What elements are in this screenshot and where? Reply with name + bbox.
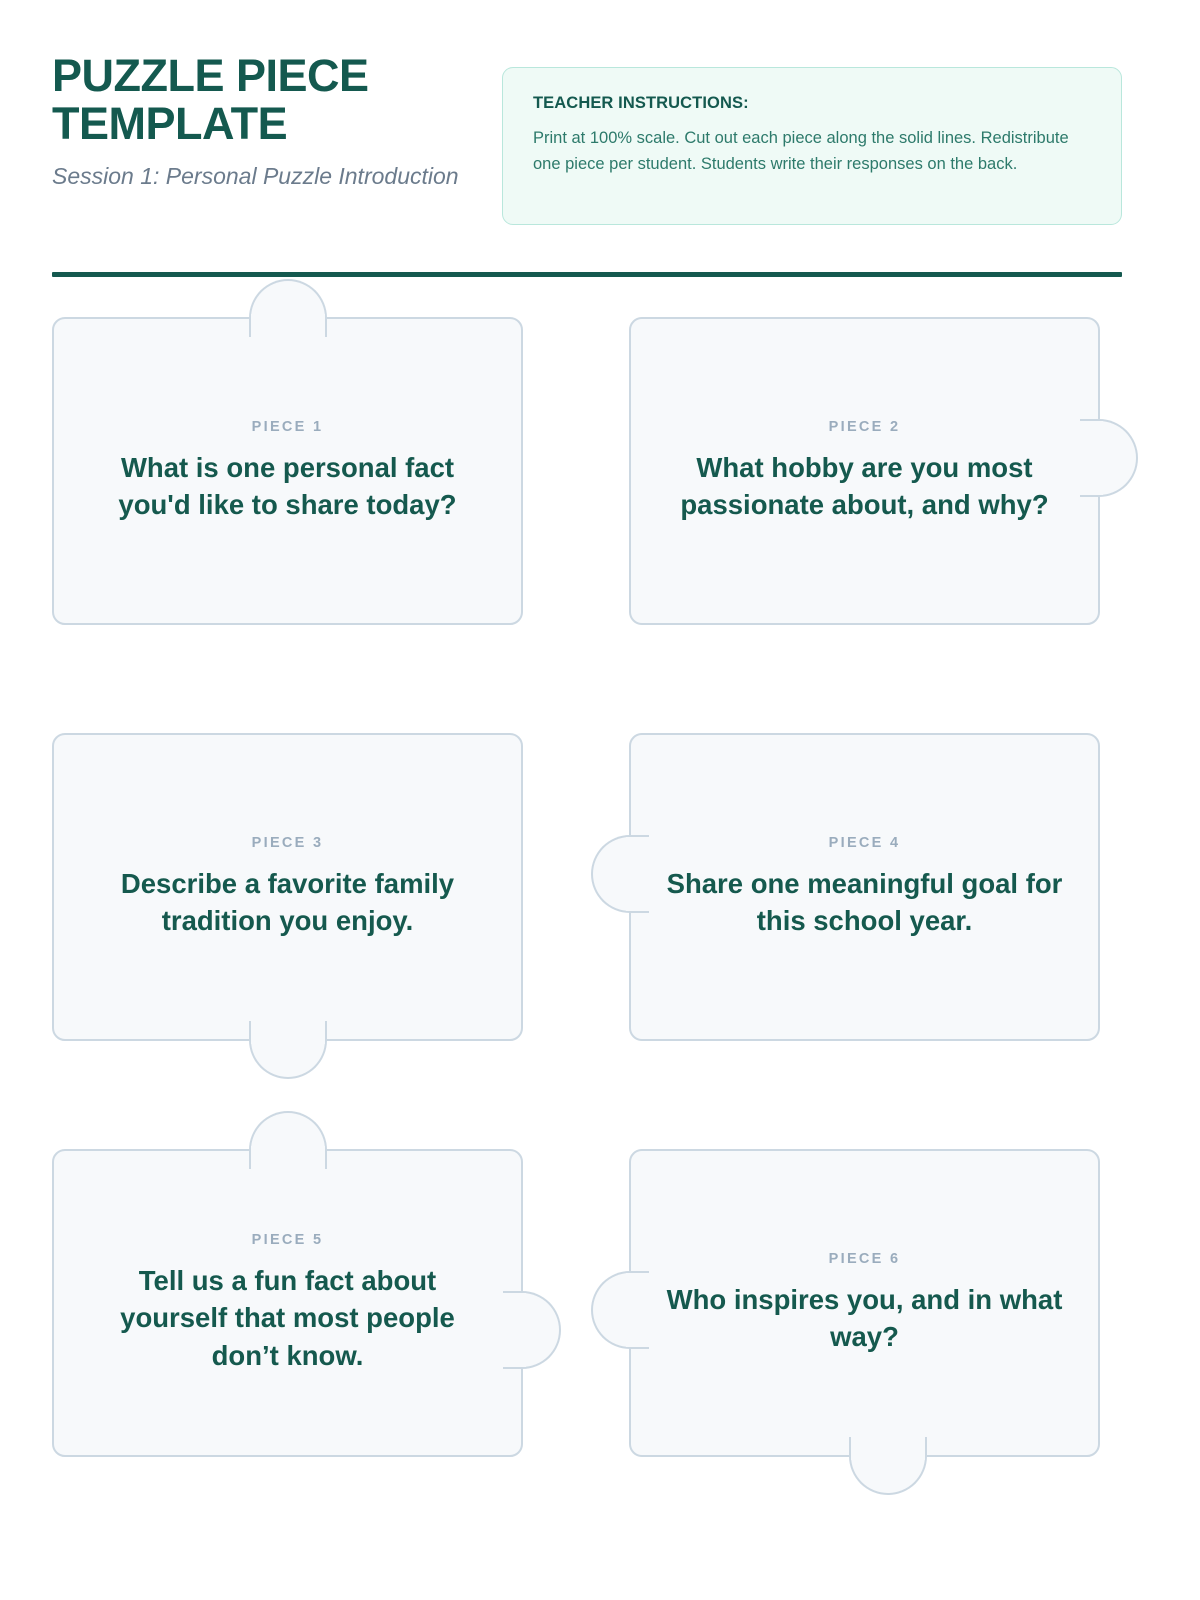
puzzle-piece-4-question: Share one meaningful goal for this schoo… xyxy=(665,865,1064,939)
puzzle-tab-right-mask xyxy=(1097,421,1103,495)
puzzle-piece-6-body: PIECE 6 Who inspires you, and in what wa… xyxy=(629,1149,1100,1457)
page-title: PUZZLE PIECE TEMPLATE xyxy=(52,52,472,147)
puzzle-piece-5-label: PIECE 5 xyxy=(252,1232,324,1248)
puzzle-row-2: PIECE 3 Describe a favorite family tradi… xyxy=(52,733,1148,1041)
header-title-block: PUZZLE PIECE TEMPLATE Session 1: Persona… xyxy=(52,52,472,193)
puzzle-tab-bottom-icon xyxy=(849,1437,927,1495)
puzzle-piece-2-label: PIECE 2 xyxy=(829,419,901,435)
puzzle-tab-left-icon xyxy=(591,1271,649,1349)
puzzle-tab-bottom-mask xyxy=(251,1038,325,1044)
puzzle-piece-3-label: PIECE 3 xyxy=(252,835,324,851)
puzzle-piece-3-question: Describe a favorite family tradition you… xyxy=(88,865,487,939)
puzzle-piece-6-question: Who inspires you, and in what way? xyxy=(665,1281,1064,1355)
puzzle-tab-top-icon xyxy=(249,1111,327,1169)
puzzle-tab-top-mask xyxy=(251,1146,325,1152)
puzzle-piece-1-question: What is one personal fact you'd like to … xyxy=(88,449,487,523)
puzzle-piece-6[interactable]: PIECE 6 Who inspires you, and in what wa… xyxy=(629,1149,1100,1457)
puzzle-piece-6-label: PIECE 6 xyxy=(829,1251,901,1267)
puzzle-row-1: PIECE 1 What is one personal fact you'd … xyxy=(52,317,1148,625)
puzzle-tab-right-icon xyxy=(503,1291,561,1369)
puzzle-tab-right-icon xyxy=(1080,419,1138,497)
puzzle-tab-left-mask xyxy=(626,837,632,911)
puzzle-tab-left-icon xyxy=(591,835,649,913)
puzzle-piece-3-body: PIECE 3 Describe a favorite family tradi… xyxy=(52,733,523,1041)
puzzle-tab-top-mask xyxy=(251,314,325,320)
puzzle-piece-5-question: Tell us a fun fact about yourself that m… xyxy=(88,1262,487,1373)
puzzle-piece-5-body: PIECE 5 Tell us a fun fact about yoursel… xyxy=(52,1149,523,1457)
puzzle-piece-4-body: PIECE 4 Share one meaningful goal for th… xyxy=(629,733,1100,1041)
puzzle-piece-2-question: What hobby are you most passionate about… xyxy=(665,449,1064,523)
puzzle-piece-1-body: PIECE 1 What is one personal fact you'd … xyxy=(52,317,523,625)
puzzle-piece-2-body: PIECE 2 What hobby are you most passiona… xyxy=(629,317,1100,625)
puzzle-piece-4[interactable]: PIECE 4 Share one meaningful goal for th… xyxy=(629,733,1100,1041)
teacher-instructions-box: TEACHER INSTRUCTIONS: Print at 100% scal… xyxy=(502,67,1122,225)
puzzle-piece-1[interactable]: PIECE 1 What is one personal fact you'd … xyxy=(52,317,523,625)
puzzle-tab-top-icon xyxy=(249,279,327,337)
header-divider xyxy=(52,272,1122,277)
teacher-instructions-heading: TEACHER INSTRUCTIONS: xyxy=(533,94,1091,113)
puzzle-tab-bottom-mask xyxy=(851,1454,925,1460)
teacher-instructions-body: Print at 100% scale. Cut out each piece … xyxy=(533,126,1091,177)
puzzle-row-3: PIECE 5 Tell us a fun fact about yoursel… xyxy=(52,1149,1148,1457)
puzzle-grid: PIECE 1 What is one personal fact you'd … xyxy=(0,317,1200,1457)
puzzle-piece-5[interactable]: PIECE 5 Tell us a fun fact about yoursel… xyxy=(52,1149,523,1457)
puzzle-tab-left-mask xyxy=(626,1273,632,1347)
puzzle-tab-right-mask xyxy=(520,1293,526,1367)
puzzle-tab-bottom-icon xyxy=(249,1021,327,1079)
puzzle-piece-2[interactable]: PIECE 2 What hobby are you most passiona… xyxy=(629,317,1100,625)
puzzle-piece-3[interactable]: PIECE 3 Describe a favorite family tradi… xyxy=(52,733,523,1041)
puzzle-piece-4-label: PIECE 4 xyxy=(829,835,901,851)
page-subtitle: Session 1: Personal Puzzle Introduction xyxy=(52,161,472,192)
page-header: PUZZLE PIECE TEMPLATE Session 1: Persona… xyxy=(0,0,1200,225)
puzzle-piece-1-label: PIECE 1 xyxy=(252,419,324,435)
